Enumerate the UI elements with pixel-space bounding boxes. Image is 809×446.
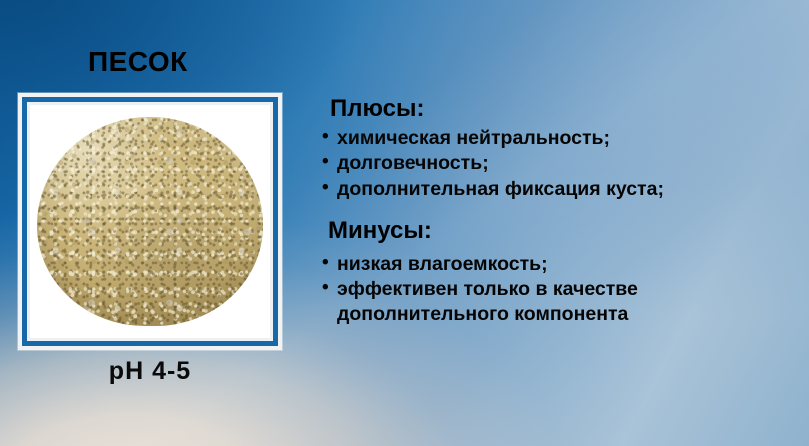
content-text-column: Плюсы: химическая нейтральность; долгове… <box>322 96 800 328</box>
sand-mound-shape <box>37 117 263 327</box>
ph-value-label: pH 4-5 <box>18 357 282 386</box>
list-item: дополнительная фиксация куста; <box>322 177 800 202</box>
list-item: долговечность; <box>322 151 800 176</box>
sand-pile-image <box>30 105 270 338</box>
cons-list: низкая влагоемкость; эффективен только в… <box>322 252 800 328</box>
slide-canvas: ПЕСОК pH 4-5 Плюсы: химическая нейтральн… <box>0 0 809 446</box>
photo-frame-inner-border <box>27 102 273 341</box>
list-item: низкая влагоемкость; <box>322 252 800 277</box>
pros-heading: Плюсы: <box>330 96 800 123</box>
cons-heading: Минусы: <box>328 218 800 245</box>
pros-list: химическая нейтральность; долговечность;… <box>322 126 800 202</box>
sand-pebble-texture <box>37 117 263 327</box>
page-title: ПЕСОК <box>88 46 188 78</box>
photo-frame <box>18 93 282 350</box>
list-item: химическая нейтральность; <box>322 126 800 151</box>
list-item: эффективен только в качестве дополнитель… <box>322 277 800 328</box>
